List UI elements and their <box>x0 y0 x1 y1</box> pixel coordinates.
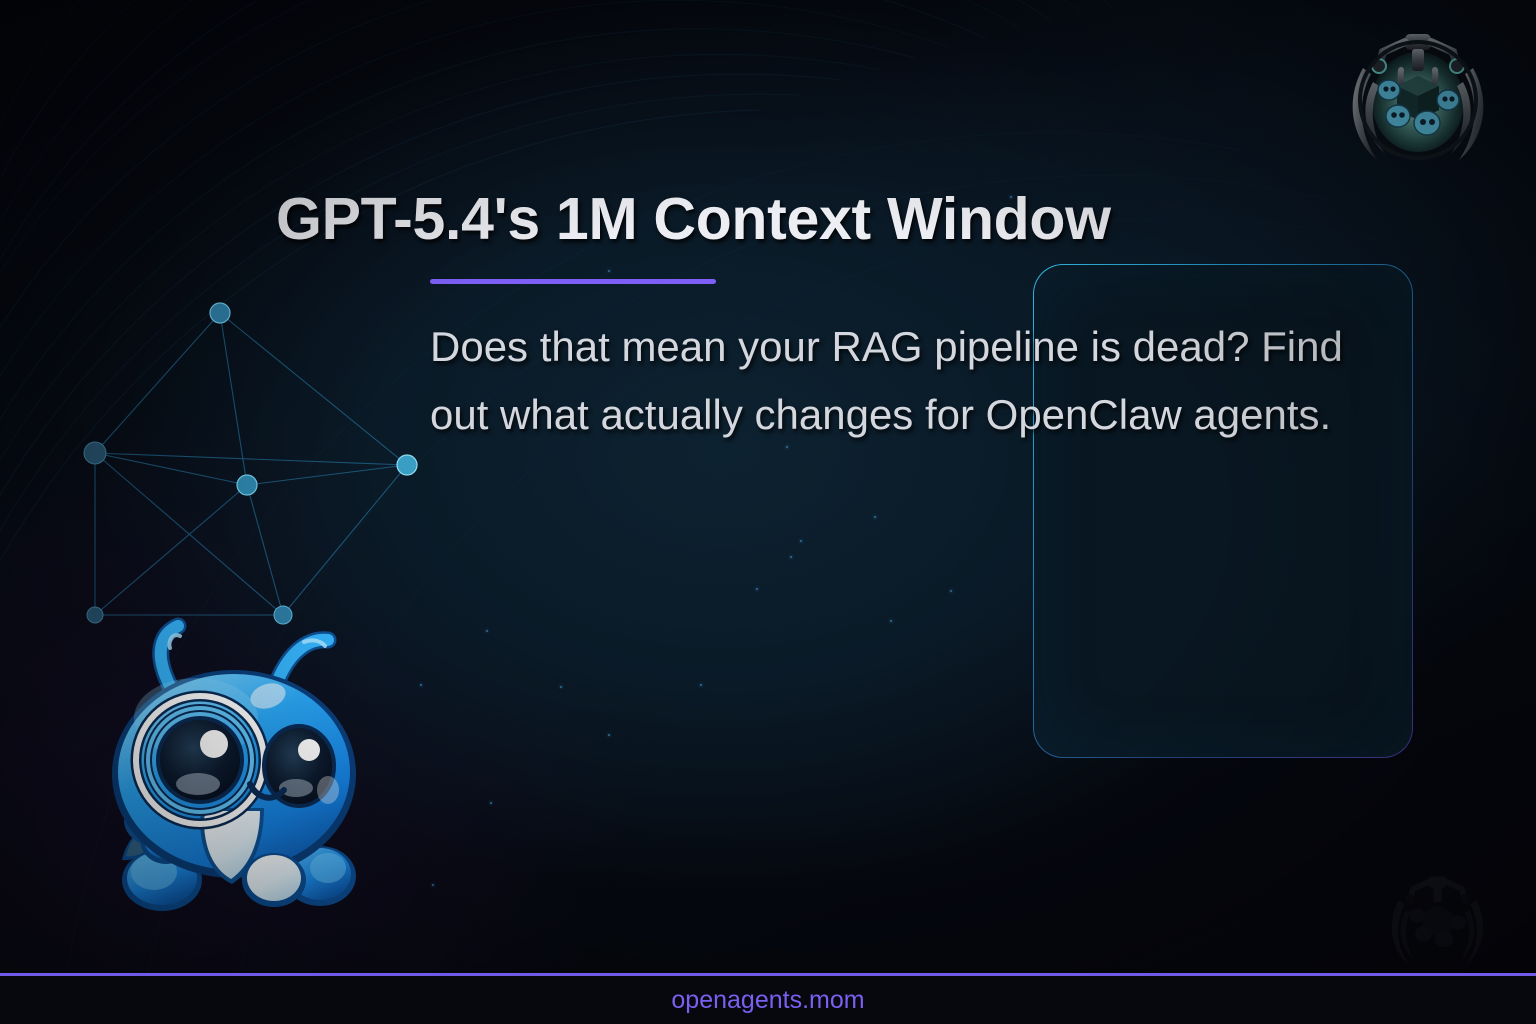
social-card-canvas: GPT-5.4's 1M Context Window Does that me… <box>0 0 1536 1024</box>
body-text: Does that mean your RAG pipeline is dead… <box>430 313 1390 449</box>
openagents-emblem-icon <box>1343 22 1493 172</box>
network-constellation-icon <box>55 285 455 645</box>
title-underline-accent <box>430 279 716 284</box>
page-title: GPT-5.4's 1M Context Window <box>276 185 1396 253</box>
openagents-watermark-icon <box>1385 868 1490 973</box>
blue-robot-mascot-icon <box>92 608 374 928</box>
footer-divider <box>0 973 1536 976</box>
footer-site-url[interactable]: openagents.mom <box>0 986 1536 1015</box>
